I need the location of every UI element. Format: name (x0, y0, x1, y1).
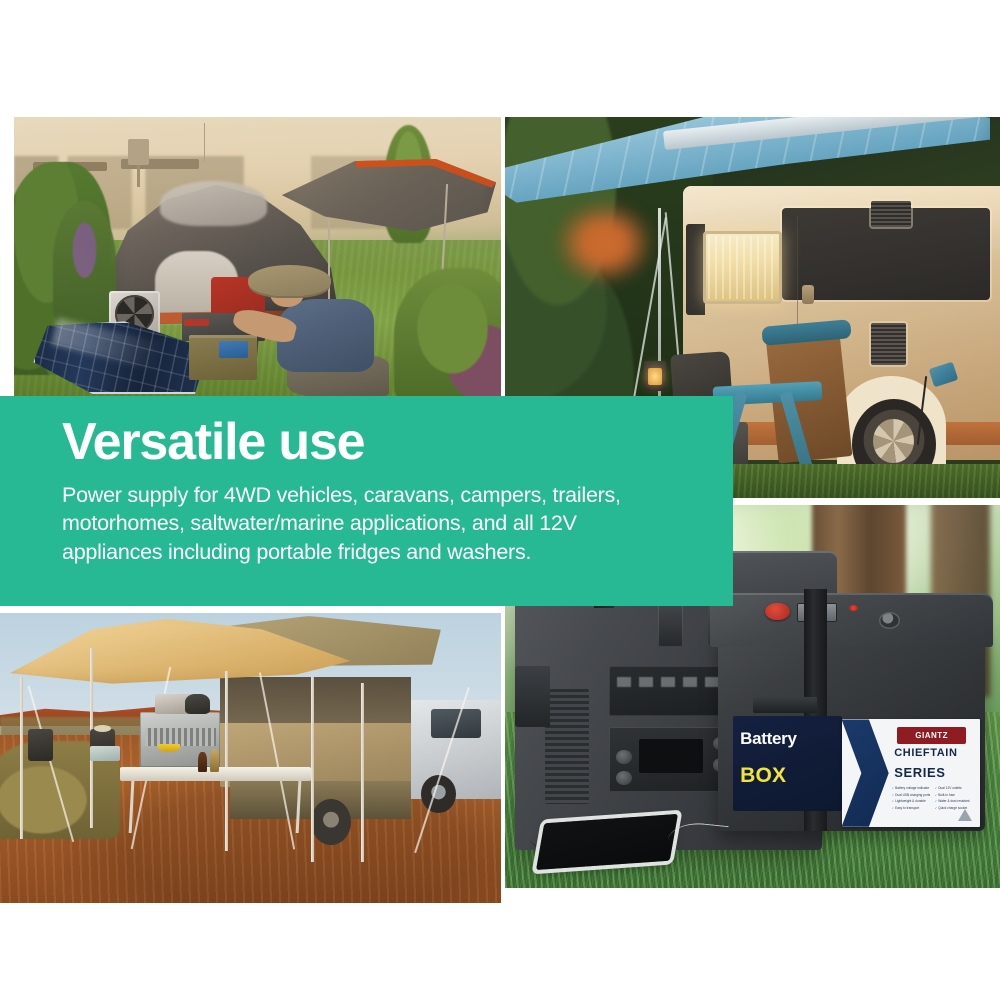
side-vent (871, 323, 906, 365)
battery-label-word-box: BOX (740, 764, 829, 802)
description-text: Power supply for 4WD vehicles, caravans,… (62, 481, 684, 566)
page-title: Versatile use (62, 416, 733, 468)
description-line: Power supply for 4WD vehicles, caravans,… (62, 481, 684, 509)
table-legs (129, 781, 302, 833)
bush-hat (248, 265, 331, 296)
antenna-tower (204, 123, 205, 162)
description-line: appliances including portable fridges an… (62, 538, 684, 566)
series-name-line2: SERIES (894, 765, 974, 783)
toolbox-red-switch (184, 319, 208, 326)
feature-item: Easy to transport (891, 806, 931, 812)
awning-pole-4 (311, 677, 314, 863)
fridge-button-up[interactable] (616, 750, 632, 764)
camping-with-solar-panel-photo (14, 117, 501, 397)
battery-label-word-battery: Battery (740, 729, 849, 763)
chevron-graphic (842, 719, 889, 826)
foreground-bush (394, 268, 501, 397)
blue-device (219, 341, 248, 358)
flowering-shrub (53, 201, 116, 324)
lantern (644, 361, 666, 391)
awning-pole-1 (20, 677, 23, 839)
battery-box-red-terminal-knob[interactable] (765, 603, 790, 621)
kettle (185, 694, 210, 714)
camp-kitchen (140, 712, 220, 767)
fridge-handle (515, 666, 550, 727)
tarp-pole-left (328, 218, 330, 302)
versatile-use-banner: GLACIO Battery BOX GIANTZ CHIEFTAIN SERI… (0, 0, 1000, 1000)
battery-box-carry-grip[interactable] (753, 697, 817, 713)
feature-item: Built-in fuse (935, 793, 975, 799)
fridge-side-vent (545, 689, 590, 804)
description-line: motorhomes, saltwater/marine application… (62, 509, 684, 537)
giantz-brand-logo: GIANTZ (897, 727, 966, 744)
battery-box-lid (710, 593, 992, 647)
trailer-wheel (311, 799, 351, 845)
feature-item: Water & dust resistant (935, 799, 975, 805)
camp-chair-1 (28, 729, 53, 761)
bottle-1 (198, 752, 207, 772)
chieftain-series-sticker: GIANTZ CHIEFTAIN SERIES Battery voltage … (842, 719, 981, 826)
awning-pole-5 (361, 683, 364, 863)
feature-item: Dual 12V outlets (935, 786, 975, 792)
warm-glow (555, 201, 654, 285)
series-name-line1: CHIEFTAIN (894, 747, 974, 764)
fridge-button-down[interactable] (616, 771, 632, 785)
feature-item: Dual USB charging ports (891, 793, 931, 799)
bottle-2 (210, 749, 219, 772)
tent-light-panel (160, 181, 267, 226)
fridge-display-screen (639, 739, 703, 773)
feature-checklist: Battery voltage indicator Dual 12V outle… (891, 786, 974, 812)
feature-item: Lightweight & durable (891, 799, 931, 805)
outback-camper-trailer-photo (0, 613, 501, 903)
green-caption-panel: Versatile use Power supply for 4WD vehic… (0, 396, 733, 606)
camper-upper-canvas (220, 677, 410, 723)
water-tank (128, 139, 148, 164)
sun-hat (94, 725, 111, 732)
roof-vent (871, 201, 911, 228)
lit-window (703, 231, 782, 303)
recycle-triangle-icon (958, 809, 972, 821)
door-handle (802, 285, 814, 304)
storage-tub (90, 746, 120, 761)
feature-item: Battery voltage indicator (891, 786, 931, 792)
